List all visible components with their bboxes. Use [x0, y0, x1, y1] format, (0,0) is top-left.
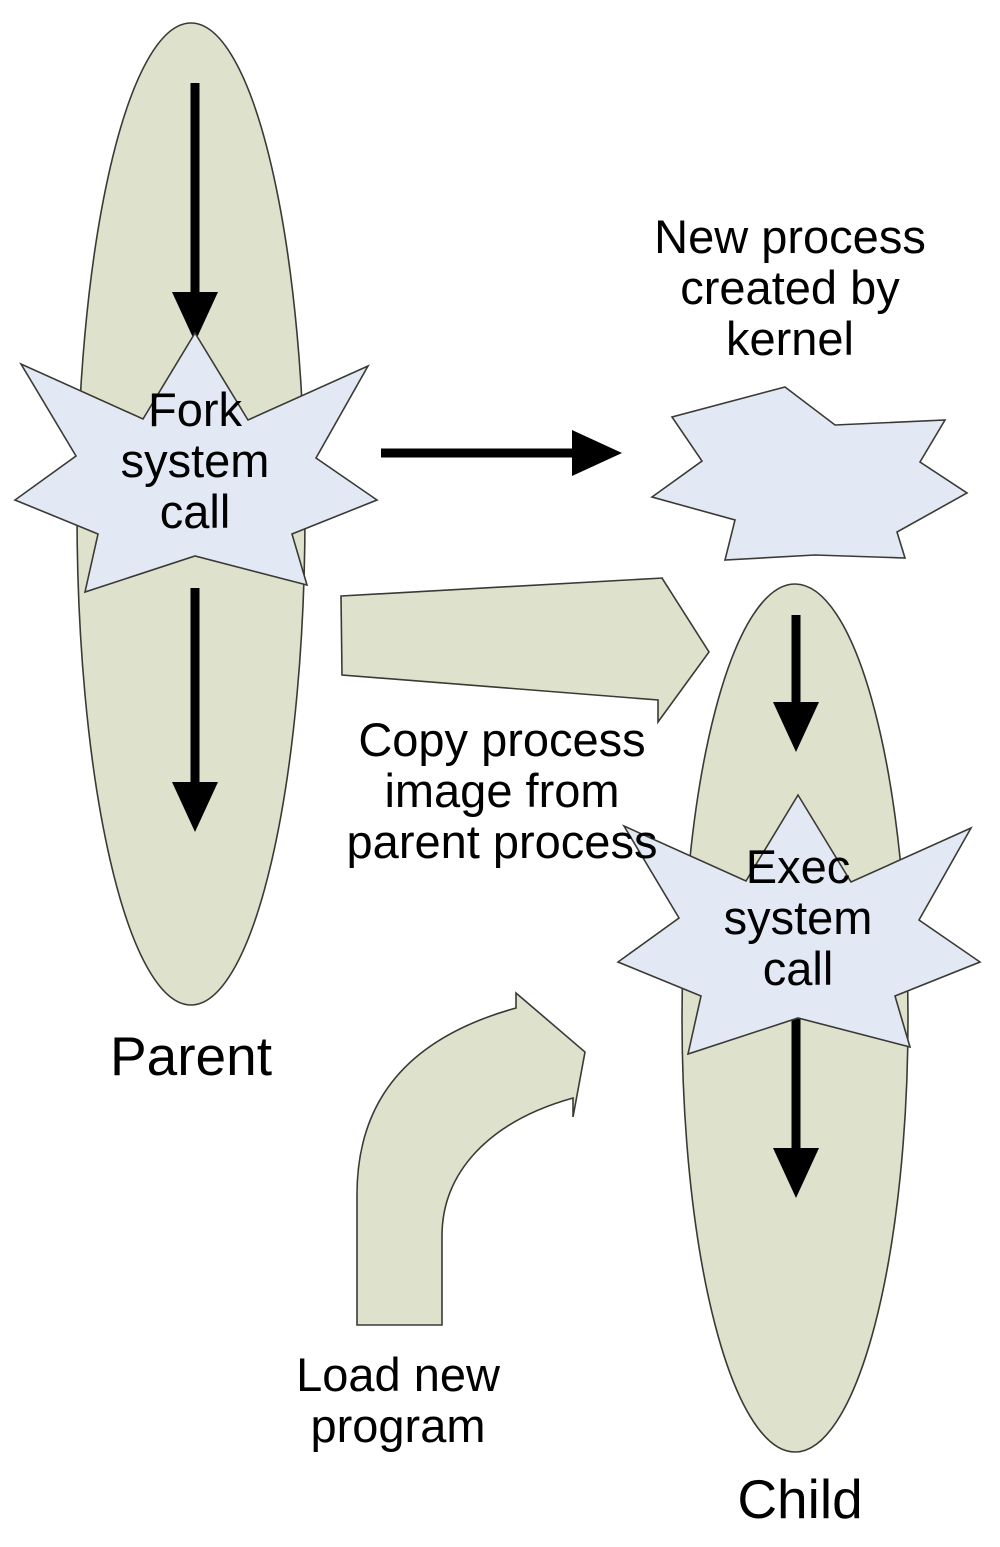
new-process-star[interactable] — [652, 387, 967, 560]
exec-system-call-label: Exec system call — [698, 842, 898, 994]
fork-exec-diagram: Fork system call New process created by … — [0, 0, 1000, 1547]
child-role-label: Child — [700, 1470, 900, 1529]
new-process-caption: New process created by kernel — [610, 212, 970, 364]
fork-system-call-label: Fork system call — [95, 385, 295, 537]
parent-role-label: Parent — [91, 1027, 291, 1086]
load-new-program-label: Load new program — [253, 1350, 543, 1452]
copy-process-image-label: Copy process image from parent process — [322, 715, 682, 867]
copy-arrow[interactable] — [341, 578, 709, 722]
load-new-program-arrow[interactable] — [357, 993, 585, 1325]
fork-to-new-process-arrow — [381, 430, 622, 476]
